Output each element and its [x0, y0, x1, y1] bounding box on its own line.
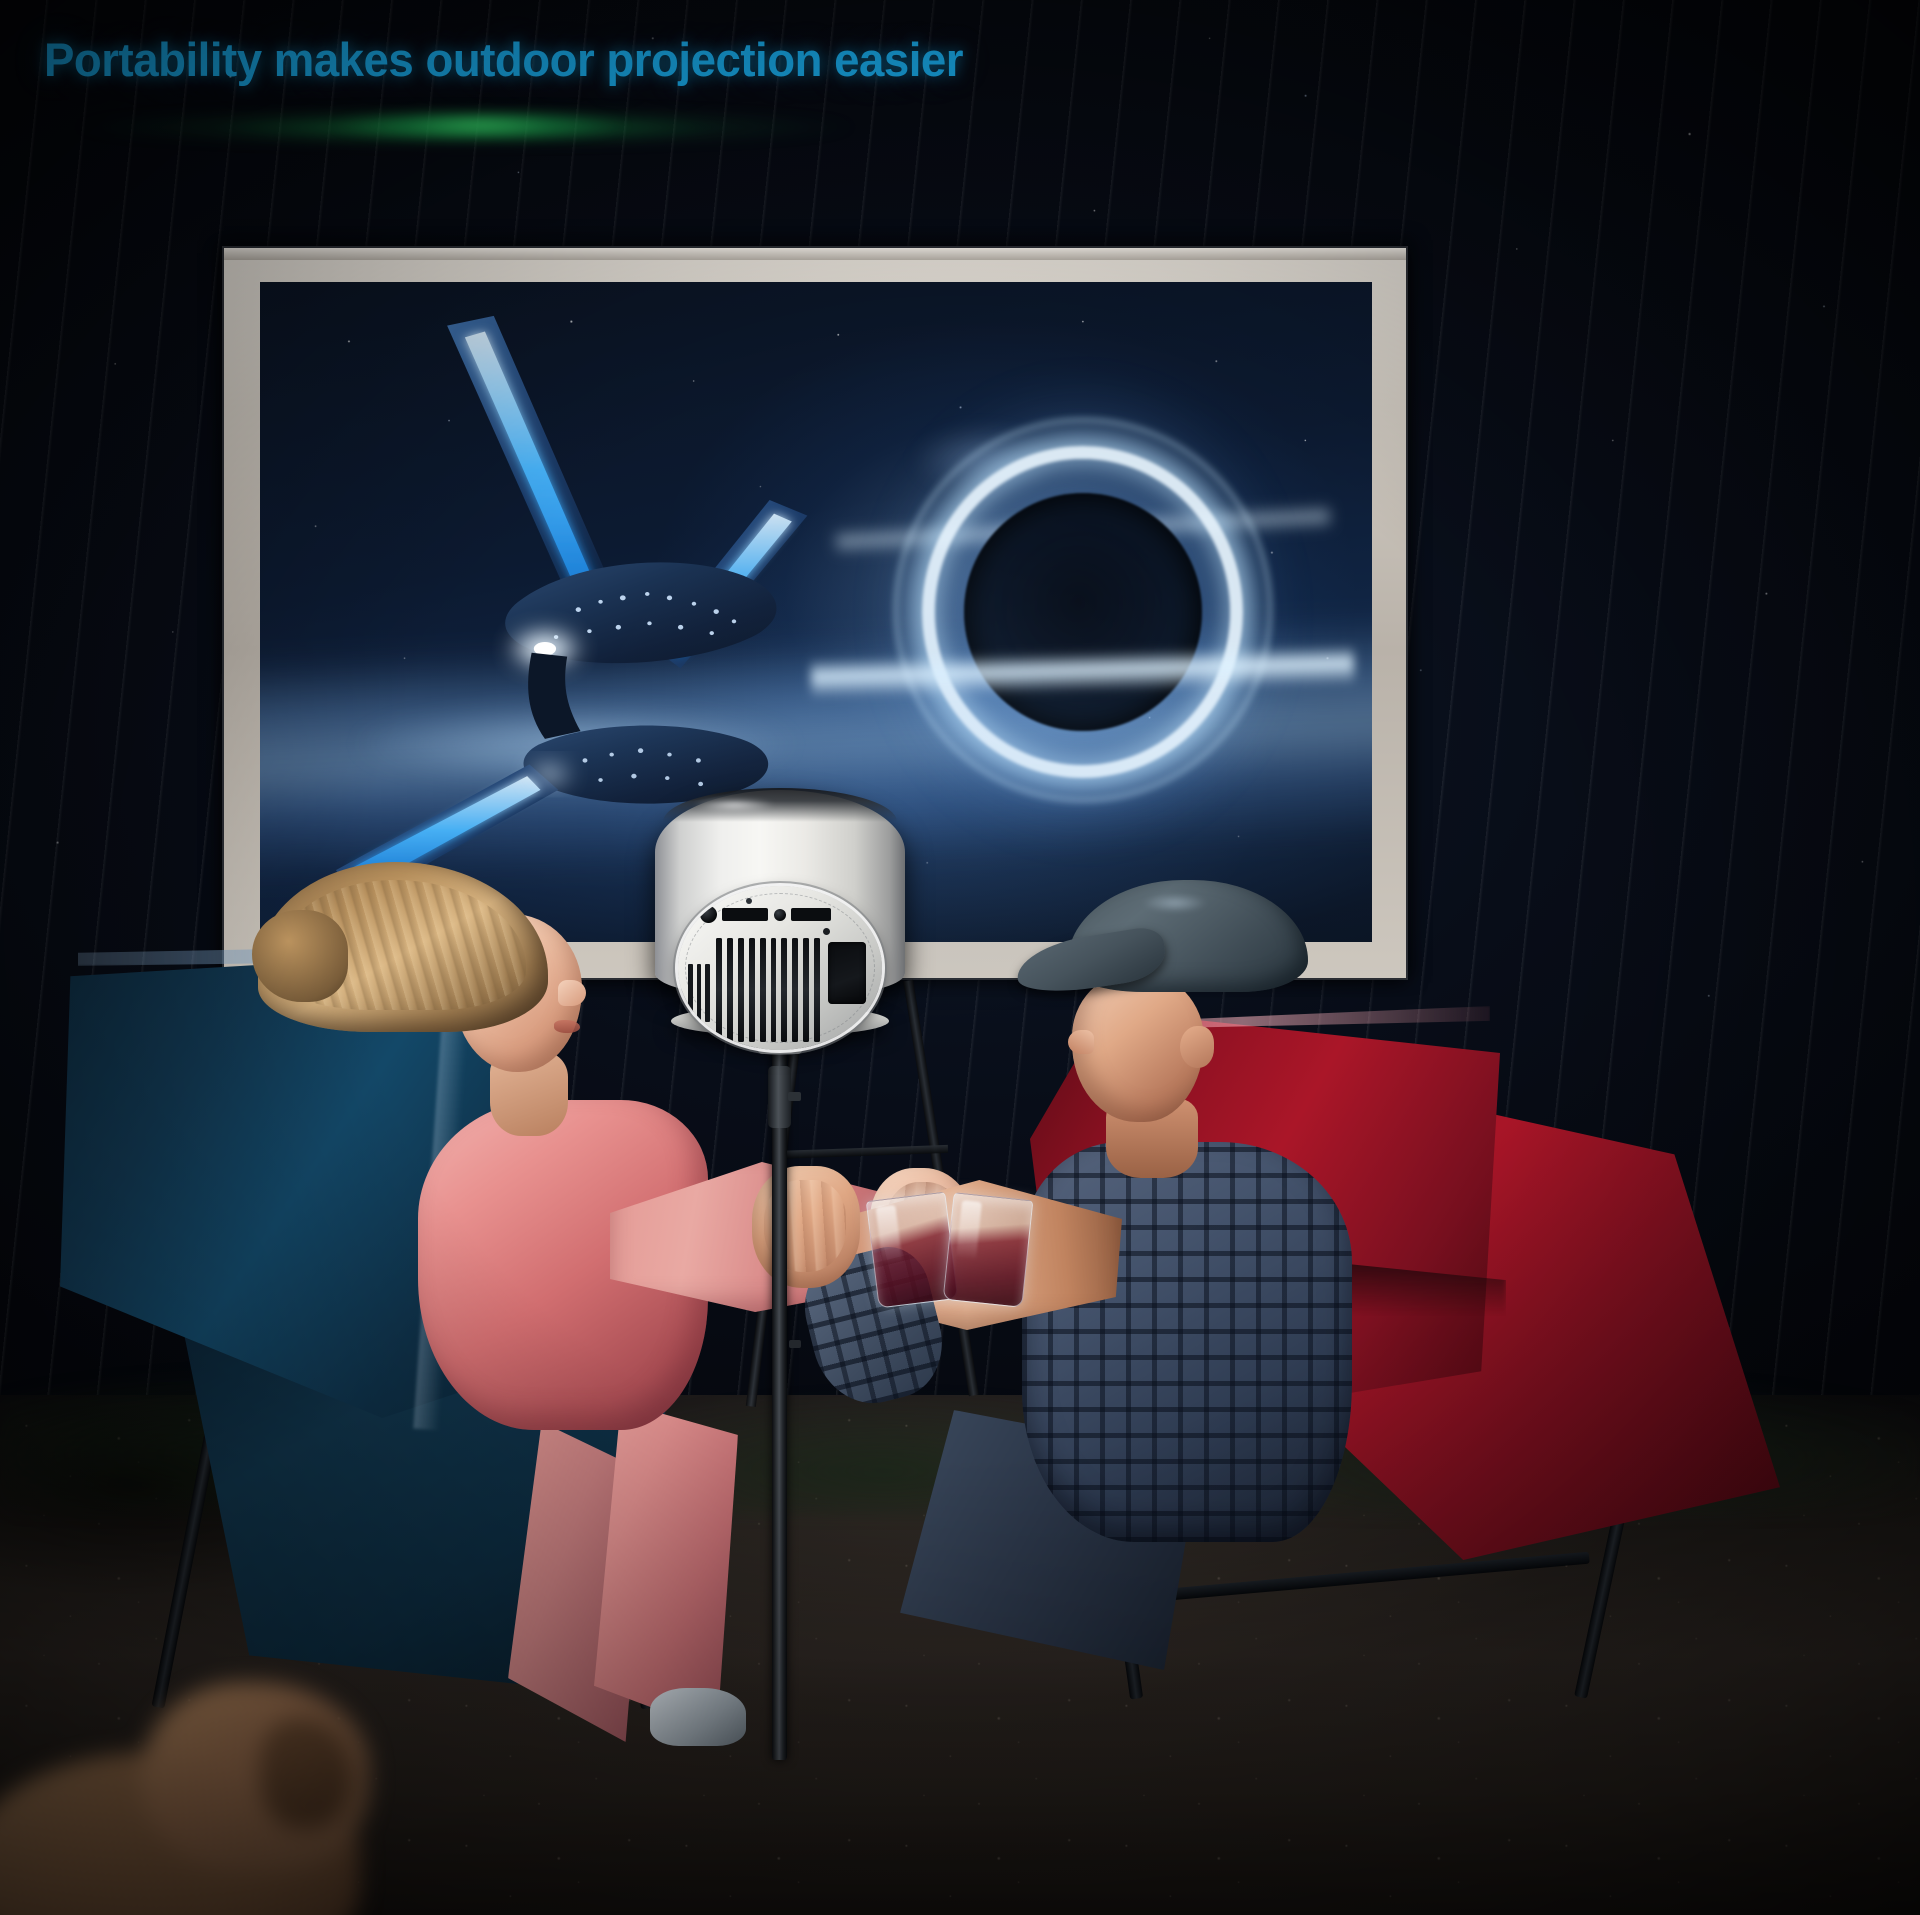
vent-fin [792, 938, 798, 1042]
man-nose [1068, 1030, 1094, 1054]
wine-glass-right [943, 1192, 1034, 1308]
reset-pinhole-icon [823, 928, 830, 935]
man-ear [1180, 1026, 1214, 1068]
projector-rear-panel [678, 886, 882, 1050]
vent-fin [727, 938, 733, 1042]
vent-fin [803, 938, 809, 1042]
glass-highlight [875, 1205, 904, 1281]
usb-port-icon [791, 908, 831, 921]
vent-fin [688, 964, 693, 1022]
status-led-icon [746, 898, 752, 904]
projector-io-panel [828, 942, 866, 1004]
black-hole [877, 414, 1288, 810]
projector-body-highlight [679, 796, 789, 814]
event-horizon [964, 493, 1203, 731]
tripod-pole-shaft [772, 1040, 787, 1760]
vent-fin [771, 938, 777, 1042]
tripod-lock-knob [789, 1340, 801, 1348]
tripod-adjust-knob [788, 1092, 801, 1101]
woman-shoe [650, 1688, 746, 1746]
vent-fin [705, 964, 710, 1022]
vent-fin [760, 938, 766, 1042]
woman-lips [554, 1020, 580, 1033]
cap-highlight [1130, 890, 1220, 916]
dog [0, 1672, 430, 1915]
green-aurora-streak-core [330, 112, 630, 138]
vent-fin [738, 938, 744, 1042]
page-title: Portability makes outdoor projection eas… [44, 32, 963, 87]
wine-glass-toast [872, 1196, 1052, 1332]
vent-fin [781, 938, 787, 1042]
vent-fin [697, 964, 702, 1022]
vent-fin [716, 938, 722, 1042]
aux-port-icon [774, 909, 786, 921]
screen-top-rail [224, 248, 1406, 260]
projector-vent-grille [716, 938, 820, 1042]
hdmi-port-icon [722, 908, 768, 921]
man-in-red-chair [1010, 880, 1570, 1580]
projector-side-vents [688, 964, 710, 1022]
projector-tripod-pole [760, 1040, 798, 1760]
man-plaid-shirt [1022, 1142, 1352, 1542]
woman-leg-near [588, 1402, 738, 1732]
promo-banner: Portability makes outdoor projection eas… [0, 0, 1920, 1915]
vent-fin [814, 938, 820, 1042]
vent-fin [749, 938, 755, 1042]
power-jack-icon [700, 906, 717, 923]
woman-ponytail-bun [252, 910, 348, 1002]
glass-highlight [954, 1200, 982, 1276]
portable-smart-projector [655, 790, 905, 1052]
woman-nose [558, 980, 586, 1006]
